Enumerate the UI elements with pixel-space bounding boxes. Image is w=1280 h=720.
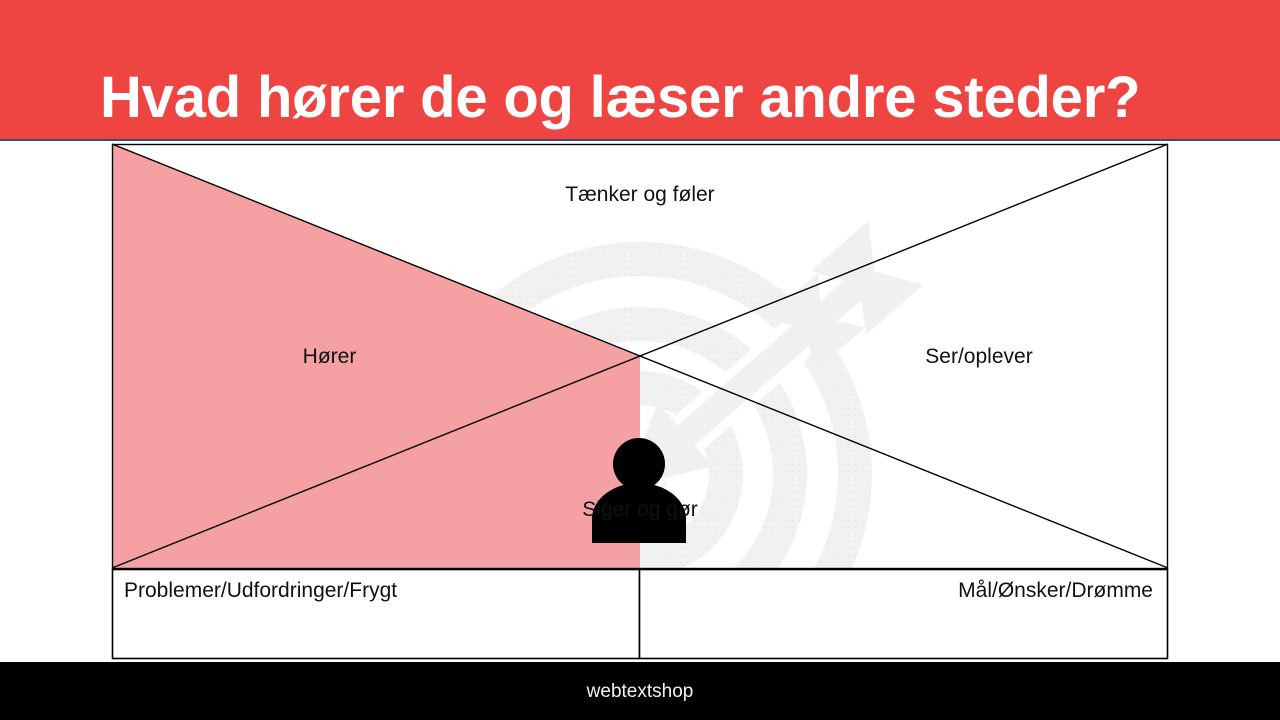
bottom-box-label-gains: Mål/Ønsker/Drømme xyxy=(652,578,1153,604)
page-title: Hvad hører de og læser andre steder? xyxy=(100,65,1200,131)
quadrant-label-thinks: Tænker og føler xyxy=(0,182,1280,208)
quadrant-label-hears: Hører xyxy=(112,344,547,370)
quadrant-label-sees: Ser/oplever xyxy=(790,344,1168,370)
bottom-box-label-pains: Problemer/Udfordringer/Frygt xyxy=(124,578,397,604)
quadrant-label-says: Siger og gør xyxy=(0,497,1280,523)
footer-brand: webtextshop xyxy=(0,680,1280,704)
